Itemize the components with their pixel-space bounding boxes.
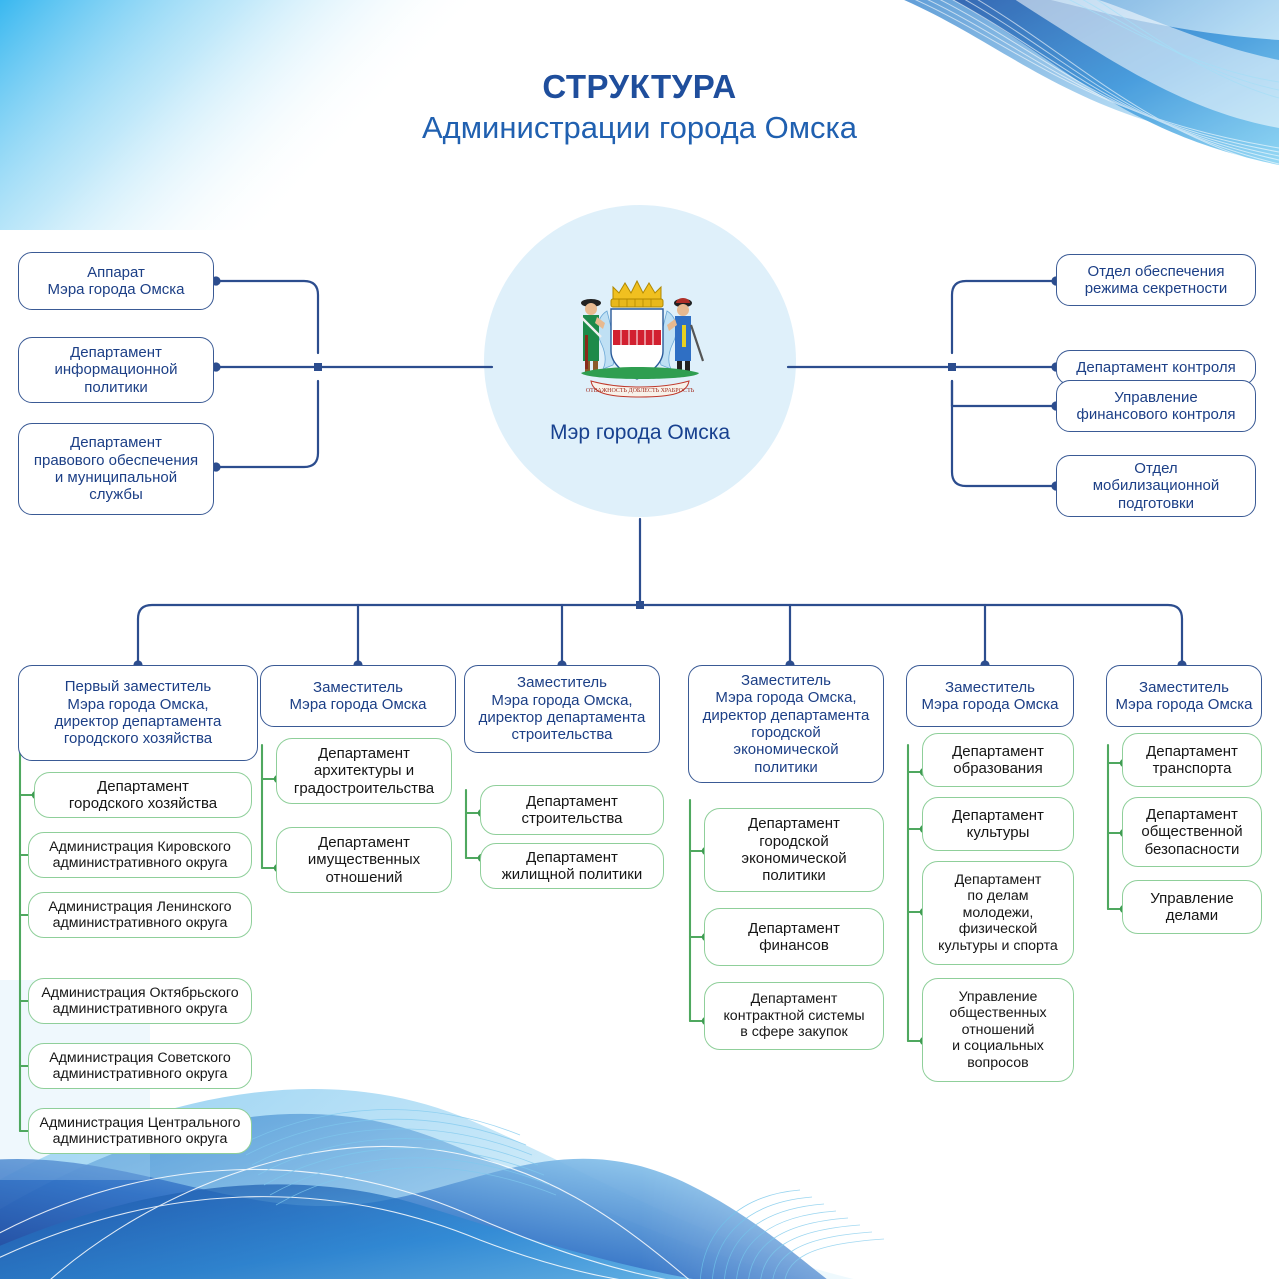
deputy-1-child-2[interactable]: Администрация Кировскогоадминистративног… bbox=[28, 832, 252, 878]
node-label: Департамент контроля bbox=[1063, 359, 1249, 376]
deputy-1-child-6[interactable]: Администрация Центральногоадминистративн… bbox=[28, 1108, 252, 1154]
node-label: Администрация Советскогоадминистративног… bbox=[35, 1050, 245, 1083]
node-label: Департаментфинансов bbox=[711, 920, 877, 955]
node-label: Департаментимущественныхотношений bbox=[283, 834, 445, 886]
node-label: ЗаместительМэра города Омска,директор де… bbox=[695, 672, 877, 776]
deputy-2-child-1[interactable]: Департаментархитектуры иградостроительст… bbox=[276, 738, 452, 804]
node-label: ЗаместительМэра города Омска bbox=[913, 679, 1067, 714]
deputy-5-child-4[interactable]: Управлениеобщественныхотношенийи социаль… bbox=[922, 978, 1074, 1082]
junction-markers bbox=[314, 363, 956, 609]
node-label: Администрация Ленинскогоадминистративног… bbox=[35, 899, 245, 932]
page-title: СТРУКТУРА bbox=[0, 68, 1279, 106]
deputy-4-child-3[interactable]: Департаментконтрактной системыв сфере за… bbox=[704, 982, 884, 1050]
org-chart-page: СТРУКТУРА Администрации города Омска bbox=[0, 0, 1279, 1279]
endpoint-dots bbox=[133, 276, 1186, 669]
deputy-4-child-2[interactable]: Департаментфинансов bbox=[704, 908, 884, 966]
node-label: Департаментжилищной политики bbox=[487, 849, 657, 884]
deputy-5-child-1[interactable]: Департаментобразования bbox=[922, 733, 1074, 787]
node-label: Департаментстроительства bbox=[487, 793, 657, 828]
node-label: АппаратМэра города Омска bbox=[25, 264, 207, 299]
deputy-3-child-1[interactable]: Департаментстроительства bbox=[480, 785, 664, 835]
deputy-4-title[interactable]: ЗаместительМэра города Омска,директор де… bbox=[688, 665, 884, 783]
deputy-5-title[interactable]: ЗаместительМэра города Омска bbox=[906, 665, 1074, 727]
deputy-3-child-2[interactable]: Департаментжилищной политики bbox=[480, 843, 664, 889]
node-label: Департаментобразования bbox=[929, 743, 1067, 778]
deputy-6-title[interactable]: ЗаместительМэра города Омска bbox=[1106, 665, 1262, 727]
node-label: Управлениефинансового контроля bbox=[1063, 389, 1249, 424]
node-label: Департаментпо деламмолодежи,физическойку… bbox=[929, 872, 1067, 954]
deputy-6-child-1[interactable]: Департаменттранспорта bbox=[1122, 733, 1262, 787]
deputy-6-child-2[interactable]: Департаментобщественнойбезопасности bbox=[1122, 797, 1262, 867]
deputy-1-child-5[interactable]: Администрация Советскогоадминистративног… bbox=[28, 1043, 252, 1089]
node-secrecy-regime-department[interactable]: Отдел обеспечениярежима секретности bbox=[1056, 254, 1256, 306]
deputy-6-child-3[interactable]: Управлениеделами bbox=[1122, 880, 1262, 934]
page-subtitle: Администрации города Омска bbox=[0, 109, 1279, 146]
node-label: ЗаместительМэра города Омска bbox=[1113, 679, 1255, 714]
node-label: Департаментконтрактной системыв сфере за… bbox=[711, 991, 877, 1040]
node-dept-legal-support[interactable]: Департаментправового обеспеченияи муници… bbox=[18, 423, 214, 515]
node-label: ЗаместительМэра города Омска,директор де… bbox=[471, 674, 653, 744]
node-label: Первый заместительМэра города Омска,дире… bbox=[25, 678, 251, 748]
node-label: Департаментархитектуры иградостроительст… bbox=[283, 745, 445, 797]
deputy-1-title[interactable]: Первый заместительМэра города Омска,дире… bbox=[18, 665, 258, 761]
node-dept-information-policy[interactable]: Департаментинформационнойполитики bbox=[18, 337, 214, 403]
deputy-2-title[interactable]: ЗаместительМэра города Омска bbox=[260, 665, 456, 727]
node-label: Департаменттранспорта bbox=[1129, 743, 1255, 778]
node-label: Администрация Октябрьскогоадминистративн… bbox=[35, 985, 245, 1018]
node-label: Отделмобилизационнойподготовки bbox=[1063, 460, 1249, 512]
node-label: Департаментгородскойэкономическойполитик… bbox=[711, 815, 877, 885]
deputy-3-title[interactable]: ЗаместительМэра города Омска,директор де… bbox=[464, 665, 660, 753]
node-label: Департаментобщественнойбезопасности bbox=[1129, 806, 1255, 858]
node-label: Департаментправового обеспеченияи муници… bbox=[25, 434, 207, 504]
node-label: Управлениеделами bbox=[1129, 890, 1255, 925]
deputy-1-child-4[interactable]: Администрация Октябрьскогоадминистративн… bbox=[28, 978, 252, 1024]
node-label: Департаментгородского хозяйства bbox=[41, 778, 245, 813]
deputy-1-child-3[interactable]: Администрация Ленинскогоадминистративног… bbox=[28, 892, 252, 938]
node-mobilization-training-department[interactable]: Отделмобилизационнойподготовки bbox=[1056, 455, 1256, 517]
node-label: Администрация Кировскогоадминистративног… bbox=[35, 839, 245, 872]
deputy-5-child-2[interactable]: Департаменткультуры bbox=[922, 797, 1074, 851]
node-label: Администрация Центральногоадминистративн… bbox=[35, 1115, 245, 1148]
deputy-1-child-1[interactable]: Департаментгородского хозяйства bbox=[34, 772, 252, 818]
page-title-block: СТРУКТУРА Администрации города Омска bbox=[0, 68, 1279, 146]
deputy-5-child-3[interactable]: Департаментпо деламмолодежи,физическойку… bbox=[922, 861, 1074, 965]
node-label: Управлениеобщественныхотношенийи социаль… bbox=[929, 989, 1067, 1071]
node-label: Отдел обеспечениярежима секретности bbox=[1063, 263, 1249, 298]
node-label: Департаментинформационнойполитики bbox=[25, 344, 207, 396]
deputy-4-child-1[interactable]: Департаментгородскойэкономическойполитик… bbox=[704, 808, 884, 892]
deputy-2-child-2[interactable]: Департаментимущественныхотношений bbox=[276, 827, 452, 893]
node-label: ЗаместительМэра города Омска bbox=[267, 679, 449, 714]
node-apparat-mayor[interactable]: АппаратМэра города Омска bbox=[18, 252, 214, 310]
node-financial-control-directorate[interactable]: Управлениефинансового контроля bbox=[1056, 380, 1256, 432]
node-label: Департаменткультуры bbox=[929, 807, 1067, 842]
